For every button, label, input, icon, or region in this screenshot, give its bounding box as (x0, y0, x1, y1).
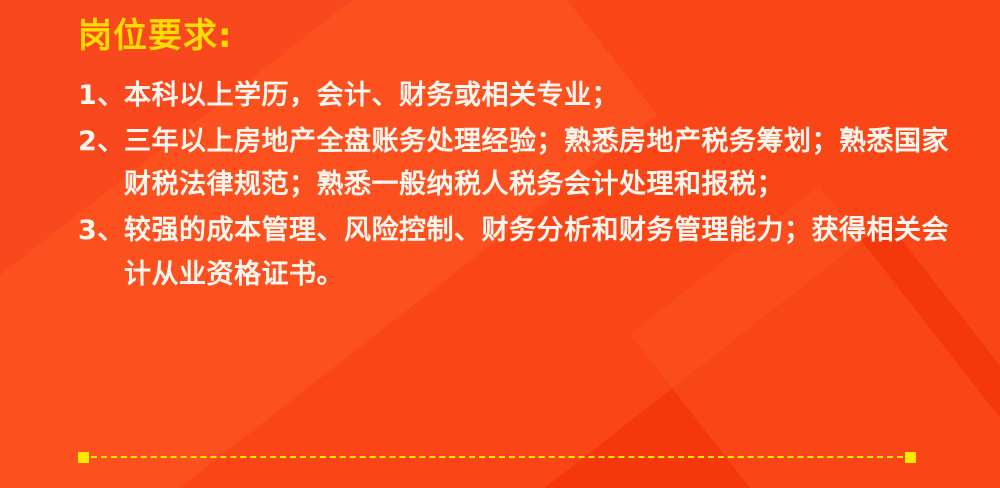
requirements-list: 1、 本科以上学历，会计、财务或相关专业； 2、 三年以上房地产全盘账务处理经验… (78, 74, 970, 297)
job-requirements-banner: 岗位要求: 1、 本科以上学历，会计、财务或相关专业； 2、 三年以上房地产全盘… (0, 0, 1000, 488)
list-item: 1、 本科以上学历，会计、财务或相关专业； (78, 74, 970, 118)
list-item-text: 较强的成本管理、风险控制、财务分析和财务管理能力；获得相关会计从业资格证书。 (124, 209, 968, 296)
divider-left-cap-icon (78, 452, 89, 463)
divider-right-cap-icon (905, 452, 916, 463)
list-item-marker: 1、 (78, 74, 124, 118)
page-title: 岗位要求: (78, 14, 970, 60)
list-item: 3、 较强的成本管理、风险控制、财务分析和财务管理能力；获得相关会计从业资格证书… (78, 209, 970, 296)
divider-dashed-line (91, 456, 903, 458)
list-item-text: 本科以上学历，会计、财务或相关专业； (124, 74, 968, 118)
list-item-marker: 3、 (78, 209, 124, 253)
dashed-divider (78, 451, 916, 463)
banner-content: 岗位要求: 1、 本科以上学历，会计、财务或相关专业； 2、 三年以上房地产全盘… (0, 0, 1000, 297)
list-item-text: 三年以上房地产全盘账务处理经验；熟悉房地产税务筹划；熟悉国家财税法律规范；熟悉一… (124, 120, 968, 207)
list-item-marker: 2、 (78, 120, 124, 164)
list-item: 2、 三年以上房地产全盘账务处理经验；熟悉房地产税务筹划；熟悉国家财税法律规范；… (78, 120, 970, 207)
